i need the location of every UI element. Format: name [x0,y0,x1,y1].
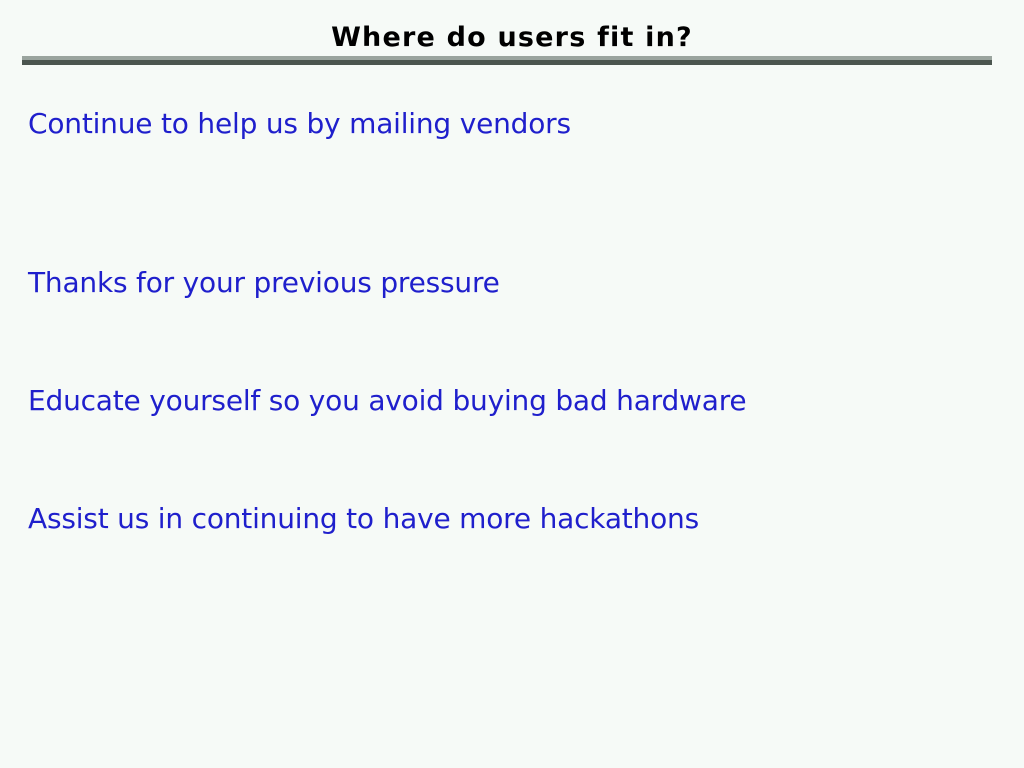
bullet-item-3: Educate yourself so you avoid buying bad… [28,381,988,421]
bullet-item-2: Thanks for your previous pressure [28,263,988,303]
presentation-slide: Where do users fit in? Continue to help … [0,0,1024,768]
slide-title: Where do users fit in? [0,22,1024,54]
slide-body: Continue to help us by mailing vendors T… [28,104,988,539]
title-divider-shadow [22,60,992,65]
bullet-item-1: Continue to help us by mailing vendors [28,104,988,144]
bullet-item-4: Assist us in continuing to have more hac… [28,499,988,539]
title-divider [22,56,992,65]
